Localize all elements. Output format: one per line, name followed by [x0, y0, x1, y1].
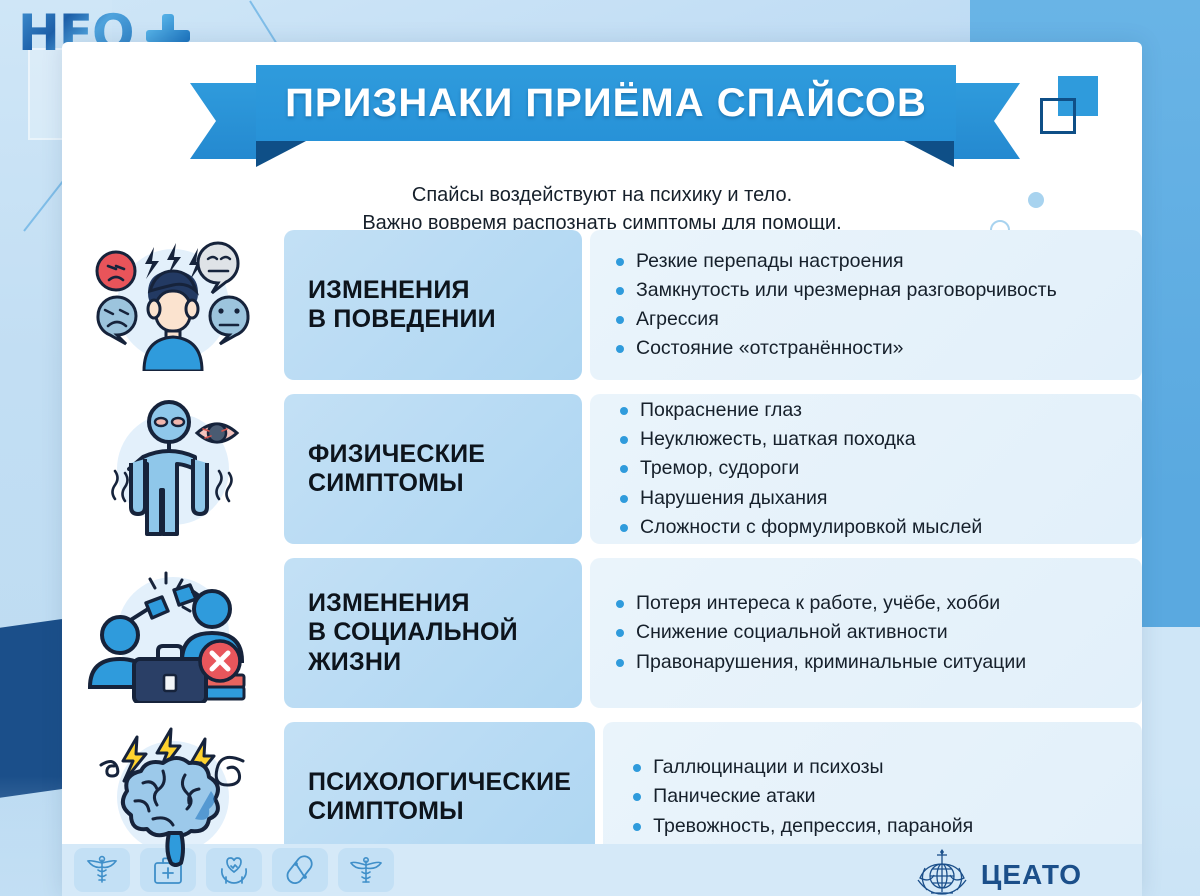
trembling-body-red-eye-icon — [62, 394, 284, 544]
bullet-item: Правонарушения, криминальные ситуации — [616, 648, 1122, 677]
subtitle-block: Спайсы воздействуют на психику и тело. В… — [62, 182, 1142, 237]
title-ribbon: ПРИЗНАКИ ПРИЁМА СПАЙСОВ — [190, 65, 1020, 165]
bullet-item: Сложности с формулировкой мыслей — [620, 513, 1122, 542]
section-label: ФИЗИЧЕСКИЕ СИМПТОМЫ — [284, 394, 582, 544]
section-label-line: СИМПТОМЫ — [308, 469, 464, 497]
section-bullets: Резкие перепады настроения Замкнутость и… — [590, 230, 1142, 380]
bullet-item: Потеря интереса к работе, учёбе, хобби — [616, 589, 1122, 618]
bullet-item: Галлюцинации и психозы — [633, 753, 1122, 782]
section-label-line: ФИЗИЧЕСКИЕ — [308, 440, 485, 468]
section-label: ИЗМЕНЕНИЯ В СОЦИАЛЬНОЙ ЖИЗНИ — [284, 558, 582, 708]
bullet-item: Снижение социальной активности — [616, 618, 1122, 647]
bullet-item: Панические атаки — [633, 782, 1122, 811]
brain-lightning-icon — [62, 722, 284, 872]
ribbon-fold-right — [904, 141, 954, 167]
broken-social-link-briefcase-icon — [62, 558, 284, 708]
section-bullets: Покраснение глаз Неуклюжесть, шаткая пох… — [590, 394, 1142, 544]
caduceus-wings-icon — [338, 848, 394, 892]
section-label: ИЗМЕНЕНИЯ В ПОВЕДЕНИИ — [284, 230, 582, 380]
bullet-item: Резкие перепады настроения — [616, 247, 1122, 276]
section-label-line: ПСИХОЛОГИЧЕСКИЕ — [308, 768, 571, 796]
ribbon-tail-left — [190, 83, 262, 159]
section-bullets: Потеря интереса к работе, учёбе, хобби С… — [590, 558, 1142, 708]
section-row: ФИЗИЧЕСКИЕ СИМПТОМЫ Покраснение глаз Неу… — [62, 394, 1142, 544]
bullet-item: Агрессия — [616, 305, 1122, 334]
infographic-canvas: HEO ПРИЗНАКИ ПРИЁМА СПАЙСОВ Спайсы возде… — [0, 0, 1200, 896]
bullet-item: Замкнутость или чрезмерная разговорчивос… — [616, 276, 1122, 305]
sections-list: ИЗМЕНЕНИЯ В ПОВЕДЕНИИ Резкие перепады на… — [62, 230, 1142, 886]
bullet-item: Состояние «отстранённости» — [616, 334, 1122, 363]
bullet-item: Тремор, судороги — [620, 454, 1122, 483]
section-row: ИЗМЕНЕНИЯ В СОЦИАЛЬНОЙ ЖИЗНИ Потеря инте… — [62, 558, 1142, 708]
who-logo: ЦЕАТО — [913, 846, 1082, 896]
section-label-line: ЖИЗНИ — [308, 648, 401, 676]
section-label-line: СИМПТОМЫ — [308, 797, 464, 825]
who-label: ЦЕАТО — [981, 859, 1082, 891]
pill-capsule-icon — [272, 848, 328, 892]
section-label-line: ИЗМЕНЕНИЯ — [308, 589, 470, 617]
section-row: ИЗМЕНЕНИЯ В ПОВЕДЕНИИ Резкие перепады на… — [62, 230, 1142, 380]
bullet-item: Нарушения дыхания — [620, 484, 1122, 513]
section-label-line: В ПОВЕДЕНИИ — [308, 305, 496, 333]
ribbon-tail-right — [948, 83, 1020, 159]
page-title: ПРИЗНАКИ ПРИЁМА СПАЙСОВ — [285, 81, 927, 126]
bullet-item: Неуклюжесть, шаткая походка — [620, 425, 1122, 454]
section-label-line: ИЗМЕНЕНИЯ — [308, 276, 470, 304]
poster-card: ПРИЗНАКИ ПРИЁМА СПАЙСОВ Спайсы воздейств… — [62, 42, 1142, 896]
bullet-item: Покраснение глаз — [620, 396, 1122, 425]
section-label-line: В СОЦИАЛЬНОЙ — [308, 618, 518, 646]
who-emblem-icon — [913, 846, 971, 896]
ribbon-fold-left — [256, 141, 306, 167]
ribbon-banner: ПРИЗНАКИ ПРИЁМА СПАЙСОВ — [256, 65, 956, 141]
angry-person-mood-swings-icon — [62, 230, 284, 380]
subtitle-line-1: Спайсы воздействуют на психику и тело. — [62, 182, 1142, 210]
bullet-item: Тревожность, депрессия, паранойя — [633, 812, 1122, 841]
decorative-square-outline — [1040, 98, 1076, 134]
